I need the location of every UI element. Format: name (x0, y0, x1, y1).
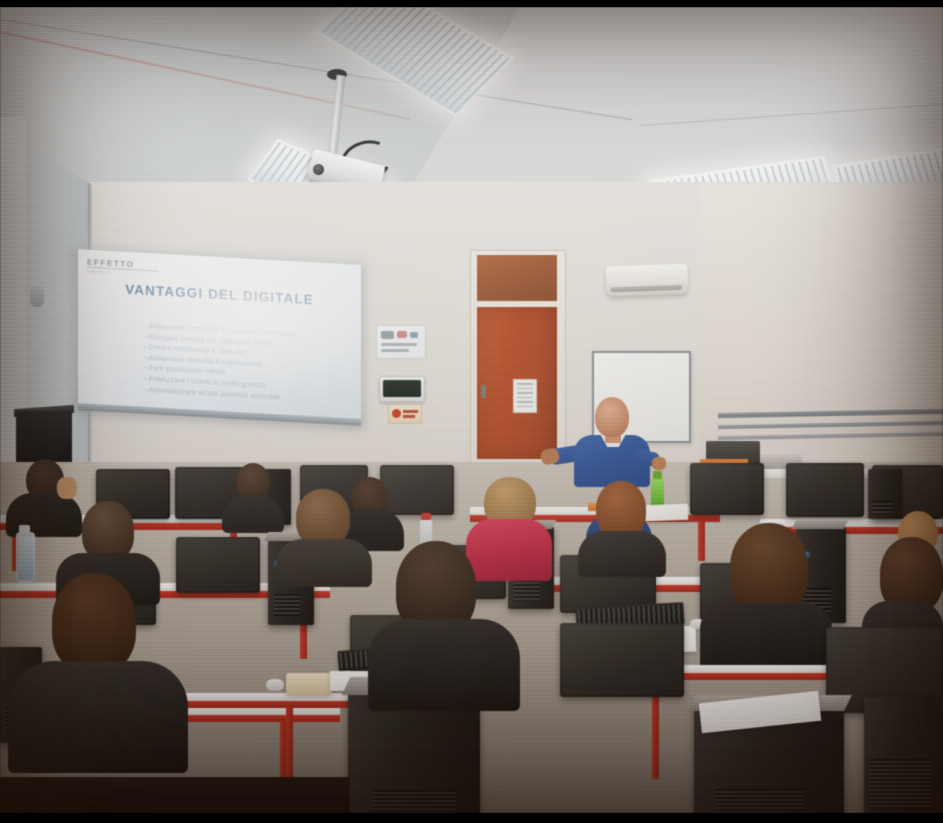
slide-bullet-list: Abbassare i costi per il materiale infor… (104, 319, 347, 407)
wall-rail-1 (718, 409, 943, 418)
classroom-photo: EFFETTO DIGITALE VANTAGGI DEL DIGITALE A… (0, 0, 943, 823)
projection-screen: EFFETTO DIGITALE VANTAGGI DEL DIGITALE A… (78, 249, 361, 423)
presenter-right-hand (652, 457, 666, 470)
water-bottle-center-cap (421, 513, 431, 520)
letterbox-top (0, 0, 943, 7)
green-bottle-cap (653, 471, 662, 479)
air-conditioner (606, 264, 689, 297)
door-notice-paper (513, 379, 537, 413)
slide-logo-subtitle: DIGITALE (87, 269, 111, 275)
foreground-desk-shadow (0, 777, 350, 813)
slide-title: VANTAGGI DEL DIGITALE (78, 279, 361, 310)
digital-display (379, 376, 425, 402)
monitor-back-6 (786, 463, 864, 517)
water-bottle-left-cap (19, 525, 30, 534)
tower-front-far-right (864, 697, 943, 813)
monitor-mid-2 (176, 537, 260, 593)
monitor-back-5 (690, 463, 764, 515)
emergency-sign-icon (392, 409, 401, 418)
mouse-front-1[interactable] (266, 679, 284, 691)
emergency-sign (388, 404, 422, 424)
door-handle[interactable] (481, 385, 486, 398)
wall-poster (376, 325, 426, 359)
monitor-back-4 (380, 465, 454, 515)
letterbox-bottom (0, 813, 943, 823)
snack-container (286, 673, 332, 695)
presenter-head (595, 397, 629, 437)
classroom-scene: EFFETTO DIGITALE VANTAGGI DEL DIGITALE A… (0, 7, 943, 813)
water-bottle-left (16, 532, 35, 582)
wall-rail-3 (718, 432, 943, 440)
presentation-slide: EFFETTO DIGITALE VANTAGGI DEL DIGITALE A… (78, 249, 361, 423)
air-conditioner-vent (610, 285, 682, 293)
monitor-front-2 (560, 623, 684, 697)
tower-back-2 (868, 469, 902, 519)
digital-display-screen (383, 380, 421, 397)
door-transom (477, 255, 557, 301)
wall-rail-2 (718, 421, 943, 429)
